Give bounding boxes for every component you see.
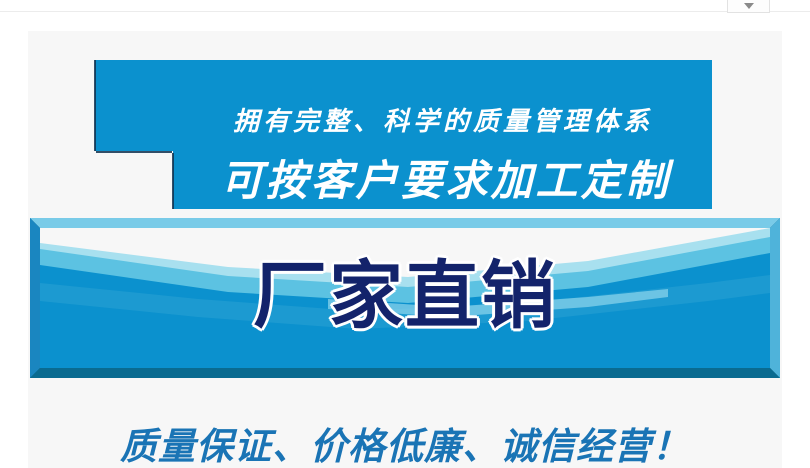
screenshot-root: 拥有完整、科学的质量管理体系 可按客户要求加工定制 厂家直销 质量保证、价格低廉… (0, 0, 810, 468)
banner-heading-line-2: 可按客户要求加工定制 (173, 147, 718, 208)
promo-banner: 拥有完整、科学的质量管理体系 可按客户要求加工定制 厂家直销 质量保证、价格低廉… (28, 31, 782, 468)
top-divider (0, 11, 810, 12)
chevron-down-icon (744, 3, 754, 9)
banner-subheading-line-1: 拥有完整、科学的质量管理体系 (173, 101, 713, 138)
banner-headline: 厂家直销 (28, 236, 782, 343)
dropdown-button[interactable] (727, 0, 770, 13)
banner-tagline: 质量保证、价格低廉、诚信经营！ (28, 416, 782, 468)
